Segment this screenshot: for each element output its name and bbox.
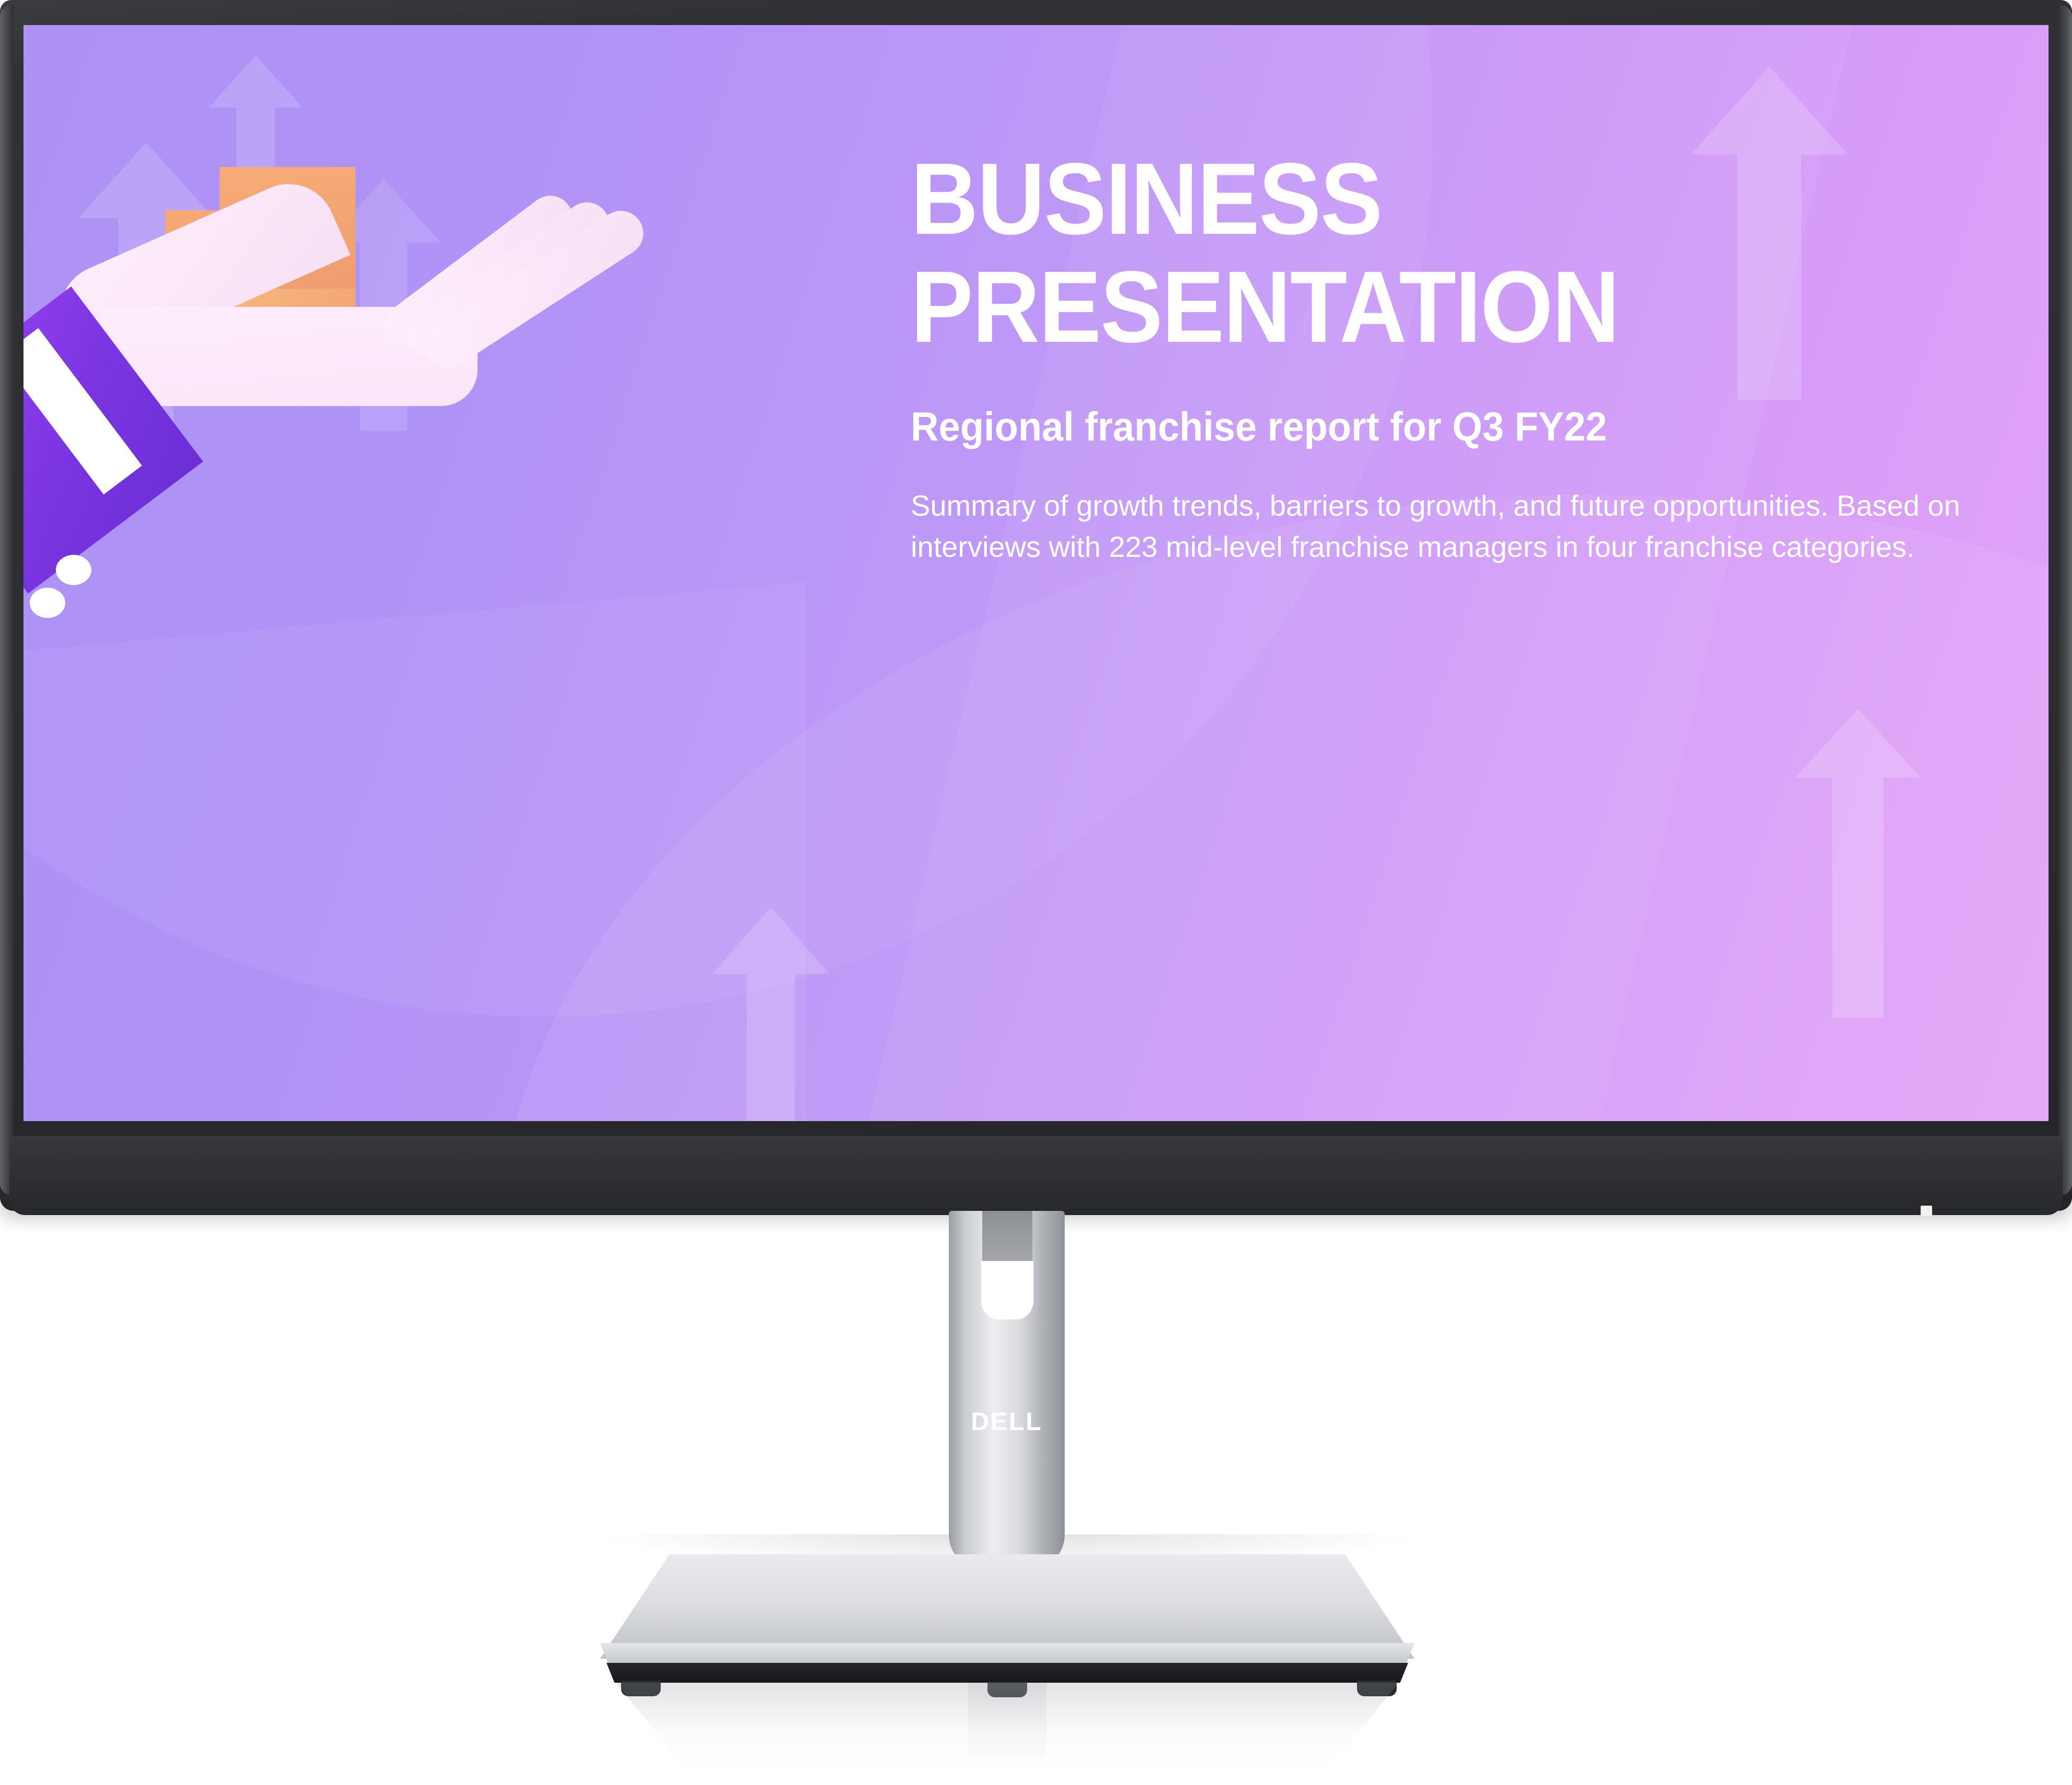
- dell-monitor: BUSINESS PRESENTATION Regional franchise…: [0, 0, 2072, 1785]
- power-led-icon[interactable]: [1921, 1206, 1932, 1216]
- monitor-screen[interactable]: BUSINESS PRESENTATION Regional franchise…: [23, 25, 2049, 1121]
- dell-brand-logo: DELL: [949, 1407, 1065, 1438]
- chassis-left-edge: [0, 5, 14, 1195]
- neck-reflection: [968, 1683, 1046, 1769]
- slide-subtitle: Regional franchise report for Q3 FY22: [911, 402, 1937, 451]
- chassis-right-edge: [2058, 5, 2072, 1195]
- slide-body-text: Summary of growth trends, barriers to gr…: [911, 485, 1965, 568]
- slide-title: BUSINESS PRESENTATION: [911, 145, 1904, 361]
- cable-slot-opening: [981, 1261, 1033, 1319]
- stand-base-rim: [606, 1663, 1408, 1683]
- dell-logo-text: DELL: [971, 1408, 1042, 1436]
- monitor-bottom-bezel: [9, 1136, 2063, 1215]
- slide-text-block: BUSINESS PRESENTATION Regional franchise…: [911, 145, 1991, 568]
- hand-chart-illustration: [23, 25, 879, 1121]
- stand-base-front-strip: [600, 1643, 1414, 1664]
- up-arrow-icon: [1795, 709, 1921, 1018]
- cuff-button-2: [30, 588, 65, 618]
- cuff-button-1: [56, 555, 91, 585]
